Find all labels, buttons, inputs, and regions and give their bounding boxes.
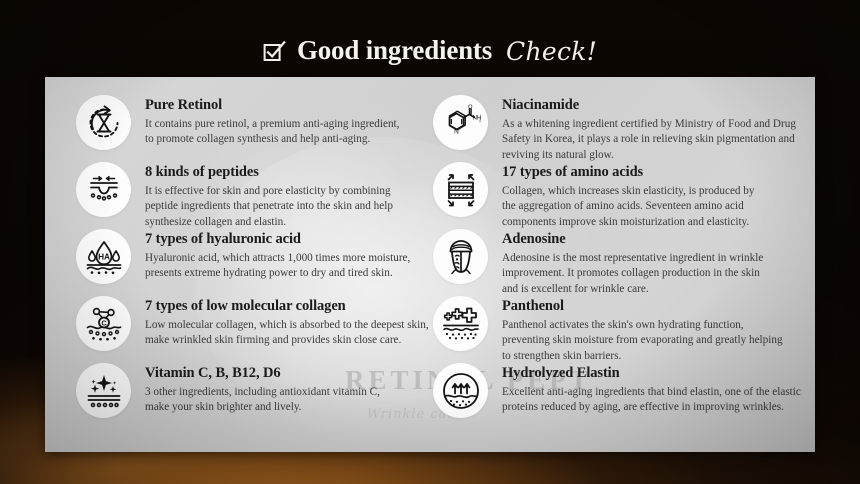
ingredient-columns: Pure RetinolIt contains pure retinol, a …: [45, 77, 815, 452]
ingredient-description-line: As a whitening ingredient certified by M…: [502, 117, 795, 132]
ingredient-text: NiacinamideAs a whitening ingredient cer…: [502, 95, 795, 163]
ingredient-description: It is effective for skin and pore elasti…: [145, 184, 393, 230]
ingredient-item: N O NH 2NiacinamideAs a whitening ingred…: [433, 95, 795, 162]
ingredient-description-line: make your skin brighter and lively.: [145, 400, 380, 415]
ingredient-description-line: to promote collagen synthesis and help a…: [145, 132, 399, 147]
ingredient-title: 7 types of hyaluronic acid: [145, 231, 410, 248]
ingredient-title: Adenosine: [502, 231, 763, 248]
ingredient-description: It contains pure retinol, a premium anti…: [145, 117, 399, 148]
sparkle-brightening-icon: [76, 363, 131, 418]
ingredient-description: Collagen, which increases skin elasticit…: [502, 184, 754, 230]
slide-root: Good ingredients Check! RETINOL PEPT Wri…: [0, 0, 860, 484]
ingredient-text: 7 types of low molecular collagenLow mol…: [145, 296, 428, 349]
ingredient-text: 17 types of amino acidsCollagen, which i…: [502, 162, 754, 230]
ingredient-description: Low molecular collagen, which is absorbe…: [145, 318, 428, 349]
ingredient-description: Hyaluronic acid, which attracts 1,000 ti…: [145, 251, 410, 282]
page-title: Good ingredients: [297, 37, 492, 64]
svg-text:N: N: [454, 128, 459, 135]
ingredient-description-line: Excellent anti-aging ingredients that bi…: [502, 385, 795, 400]
ingredient-description-line: 3 other ingredients, including antioxida…: [145, 385, 380, 400]
ingredient-title: Vitamin C, B, B12, D6: [145, 365, 380, 382]
ingredient-description-line: the aggregation of amino acids. Seventee…: [502, 199, 754, 214]
ingredient-description-line: preventing skin moisture from evaporatin…: [502, 333, 783, 348]
ingredient-item: Vitamin C, B, B12, D63 other ingredients…: [76, 363, 428, 430]
ingredient-description-line: Panthenol activates the skin's own hydra…: [502, 318, 783, 333]
svg-text:HA: HA: [98, 252, 110, 261]
ingredient-description: Excellent anti-aging ingredients that bi…: [502, 385, 795, 416]
page-title-accent: Check!: [506, 39, 597, 64]
ingredient-text: AdenosineAdenosine is the most represent…: [502, 229, 763, 297]
ingredient-title: Panthenol: [502, 298, 783, 315]
hourglass-rotate-icon: [76, 95, 131, 150]
ingredient-title: Hydrolyzed Elastin: [502, 365, 795, 382]
face-wrinkle-care-icon: [433, 229, 488, 284]
ingredient-item: AdenosineAdenosine is the most represent…: [433, 229, 795, 296]
ingredient-description-line: synthesize collagen and elastin.: [145, 215, 393, 230]
ingredient-description-line: make wrinkled skin firming and provides …: [145, 333, 428, 348]
ingredient-description-line: proteins reduced by aging, are effective…: [502, 400, 795, 415]
elastin-lift-arrows-icon: [433, 363, 488, 418]
ingredient-text: PanthenolPanthenol activates the skin's …: [502, 296, 783, 364]
ingredient-description-line: to strengthen skin barriers.: [502, 349, 783, 364]
ingredient-description-line: improvement. It promotes collagen produc…: [502, 266, 763, 281]
content-panel: RETINOL PEPT Wrinkle care Pure RetinolIt…: [45, 77, 815, 452]
collagen-molecule-icon: C: [76, 296, 131, 351]
svg-text:C: C: [101, 318, 107, 327]
amino-acid-layers-icon: [433, 162, 488, 217]
ingredient-description: Panthenol activates the skin's own hydra…: [502, 318, 783, 364]
ingredient-item: C 7 types of low molecular collagenLow m…: [76, 296, 428, 363]
ingredient-item: PanthenolPanthenol activates the skin's …: [433, 296, 795, 363]
ingredient-item: Pure RetinolIt contains pure retinol, a …: [76, 95, 428, 162]
ingredient-description-line: presents extreme hydrating power to dry …: [145, 266, 410, 281]
ingredient-item: 17 types of amino acidsCollagen, which i…: [433, 162, 795, 229]
ingredient-title: 8 kinds of peptides: [145, 164, 393, 181]
checkbox-check-icon: [263, 40, 286, 63]
ingredient-description: As a whitening ingredient certified by M…: [502, 117, 795, 163]
svg-text:O: O: [468, 104, 473, 110]
ingredient-description-line: Adenosine is the most representative ing…: [502, 251, 763, 266]
ingredient-description-line: reviving its natural glow.: [502, 148, 795, 163]
ingredient-description-line: components improve skin moisturization a…: [502, 215, 754, 230]
ingredient-text: 7 types of hyaluronic acidHyaluronic aci…: [145, 229, 410, 282]
ingredient-description-line: peptide ingredients that penetrate into …: [145, 199, 393, 214]
ingredient-description: Adenosine is the most representative ing…: [502, 251, 763, 297]
ingredient-text: 8 kinds of peptidesIt is effective for s…: [145, 162, 393, 230]
ingredient-description-line: Safety in Korea, it plays a role in reli…: [502, 132, 795, 147]
skin-barrier-plus-icon: [433, 296, 488, 351]
ingredient-description-line: and is excellent for wrinkle care.: [502, 282, 763, 297]
ingredient-description-line: Collagen, which increases skin elasticit…: [502, 184, 754, 199]
niacinamide-molecule-icon: N O NH 2: [433, 95, 488, 150]
ingredient-description-line: Low molecular collagen, which is absorbe…: [145, 318, 428, 333]
ingredient-title: 7 types of low molecular collagen: [145, 298, 428, 315]
ingredient-title: Pure Retinol: [145, 97, 399, 114]
ingredient-description-line: Hyaluronic acid, which attracts 1,000 ti…: [145, 251, 410, 266]
ingredient-description: 3 other ingredients, including antioxida…: [145, 385, 380, 416]
ingredient-text: Pure RetinolIt contains pure retinol, a …: [145, 95, 399, 148]
ingredient-description-line: It is effective for skin and pore elasti…: [145, 184, 393, 199]
ingredient-description-line: It contains pure retinol, a premium anti…: [145, 117, 399, 132]
ingredient-title: Niacinamide: [502, 97, 795, 114]
ingredient-item: HA 7 types of hyaluronic acidHyaluronic …: [76, 229, 428, 296]
slide-title-row: Good ingredients Check!: [0, 30, 860, 70]
ingredient-text: Hydrolyzed ElastinExcellent anti-aging i…: [502, 363, 795, 416]
ingredient-column-right: N O NH 2NiacinamideAs a whitening ingred…: [433, 95, 795, 430]
svg-text:2: 2: [479, 117, 481, 122]
ingredient-item: Hydrolyzed ElastinExcellent anti-aging i…: [433, 363, 795, 430]
ingredient-item: 8 kinds of peptidesIt is effective for s…: [76, 162, 428, 229]
hyaluronic-acid-droplet-icon: HA: [76, 229, 131, 284]
ingredient-text: Vitamin C, B, B12, D63 other ingredients…: [145, 363, 380, 416]
ingredient-column-left: Pure RetinolIt contains pure retinol, a …: [76, 95, 428, 430]
skin-pore-arrows-icon: [76, 162, 131, 217]
ingredient-title: 17 types of amino acids: [502, 164, 754, 181]
